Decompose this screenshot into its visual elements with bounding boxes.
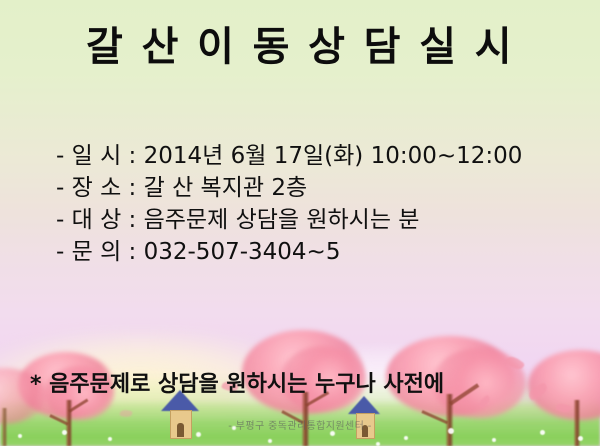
footer-organization: - 부평구 중독관리통합지원센터 - xyxy=(0,417,600,432)
detail-line-location: - 장 소 : 갈 산 복지관 2층 xyxy=(56,172,586,204)
poster-canvas: 갈 산 이 동 상 담 실 시 - 일 시 : 2014년 6월 17일(화) … xyxy=(0,0,600,446)
poster-title: 갈 산 이 동 상 담 실 시 xyxy=(0,24,600,71)
detail-line-datetime: - 일 시 : 2014년 6월 17일(화) 10:00~12:00 xyxy=(56,140,586,172)
note-line-1: * 음주문제로 상담을 원하시는 누구나 사전에 xyxy=(46,370,600,400)
detail-line-contact: - 문 의 : 032-507-3404~5 xyxy=(56,236,586,268)
detail-list: - 일 시 : 2014년 6월 17일(화) 10:00~12:00 - 장 … xyxy=(56,140,586,268)
poster-content: 갈 산 이 동 상 담 실 시 - 일 시 : 2014년 6월 17일(화) … xyxy=(0,0,600,446)
detail-line-audience: - 대 상 : 음주문제 상담을 원하시는 분 xyxy=(56,204,586,236)
